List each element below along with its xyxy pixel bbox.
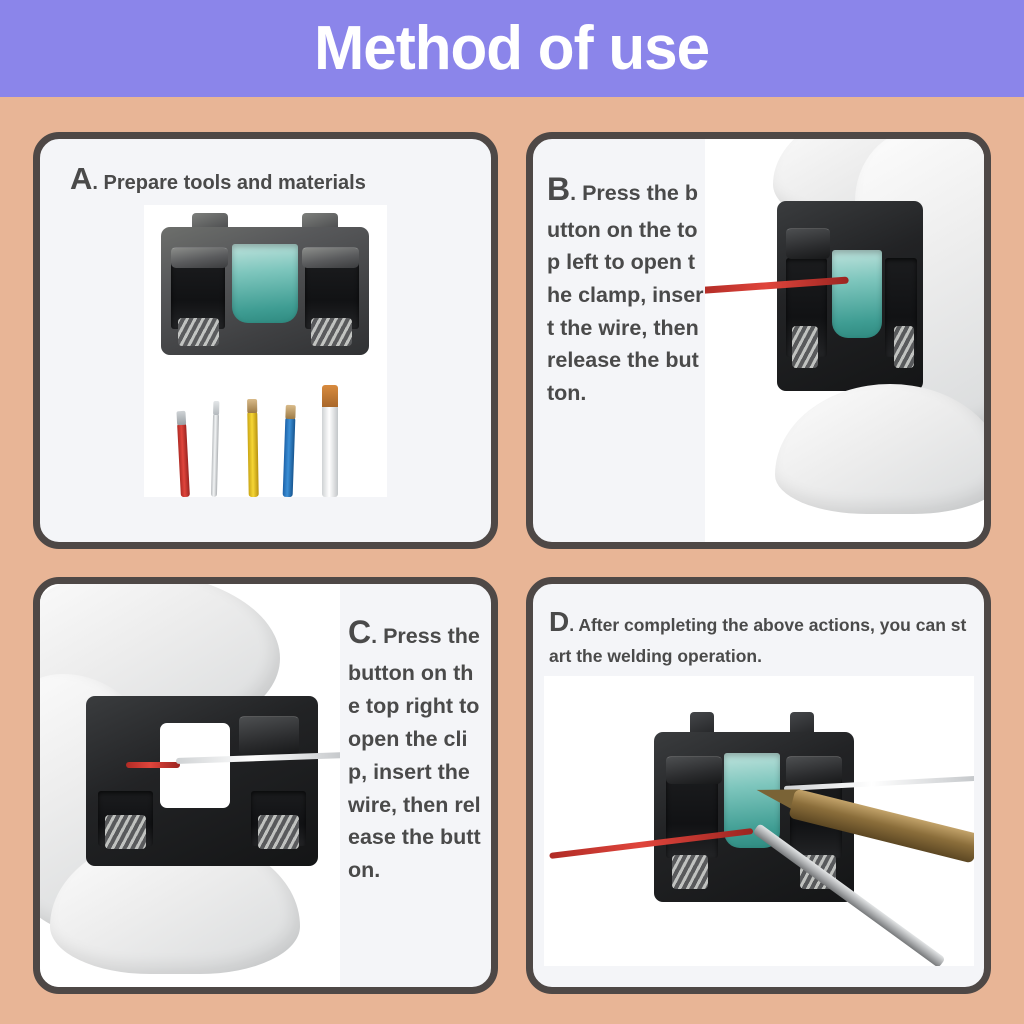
press-right-button-photo xyxy=(40,584,340,987)
wire-red xyxy=(177,423,190,497)
panel-a-letter: A xyxy=(70,161,92,196)
panel-c-letter: C xyxy=(348,614,371,650)
jig-spring-left xyxy=(792,326,818,368)
jig-lever-left xyxy=(666,756,722,784)
panel-c-separator: . xyxy=(371,624,383,648)
glove-lower xyxy=(775,384,984,514)
instruction-infographic: Method of use A. Prepare tools and mater… xyxy=(0,0,1024,1024)
wire-silver xyxy=(211,413,219,497)
panel-grid: A. Prepare tools and materials xyxy=(0,97,1024,1024)
jig-slot-left xyxy=(666,773,718,858)
jig-spring-right xyxy=(311,318,353,346)
welding-operation-photo xyxy=(544,676,974,966)
clamp-jig-illustration xyxy=(86,696,318,866)
panel-a-caption: A. Prepare tools and materials xyxy=(40,139,491,197)
clamp-jig-illustration xyxy=(161,227,369,355)
panel-a-separator: . xyxy=(92,172,103,194)
panel-b-text: Press the button on the top left to open… xyxy=(547,181,704,405)
panel-a-text: Prepare tools and materials xyxy=(104,172,366,194)
jig-lever-right xyxy=(302,247,358,267)
panel-b-letter: B xyxy=(547,171,570,207)
panel-a-photo-wrap xyxy=(40,197,491,542)
page-title: Method of use xyxy=(314,18,709,80)
jig-solder-pad xyxy=(232,244,299,323)
jig-solder-pad xyxy=(832,250,882,337)
jig-spring-left xyxy=(672,855,708,889)
jig-spring-right xyxy=(258,815,300,849)
panel-b: B. Press the button on the top left to o… xyxy=(526,132,991,549)
panel-a: A. Prepare tools and materials xyxy=(33,132,498,549)
panel-d-text: After completing the above actions, you … xyxy=(549,615,966,666)
wire-yellow xyxy=(247,411,258,497)
panel-d: D. After completing the above actions, y… xyxy=(526,577,991,994)
wire-red xyxy=(126,762,180,768)
panel-b-separator: . xyxy=(570,181,582,205)
jig-lever-left xyxy=(171,247,227,267)
jig-spring-left xyxy=(105,815,147,849)
header-bar: Method of use xyxy=(0,0,1024,97)
clamp-jig-illustration xyxy=(777,201,923,391)
panel-d-caption: D. After completing the above actions, y… xyxy=(533,584,984,669)
panel-c-caption: C. Press the button on the top right to … xyxy=(340,584,491,987)
press-left-button-photo xyxy=(705,139,984,542)
jig-lever-right xyxy=(786,756,842,784)
jig-lever-left xyxy=(786,228,830,259)
jig-spring-right xyxy=(894,326,914,368)
panel-d-letter: D xyxy=(549,606,569,637)
jig-lever-right xyxy=(239,716,299,754)
panel-c-text: Press the button on the top right to ope… xyxy=(348,624,481,882)
panel-d-separator: . xyxy=(569,615,578,635)
wire-white-thick xyxy=(322,405,338,497)
tools-and-materials-photo xyxy=(144,205,387,497)
wire-blue xyxy=(283,417,296,497)
panel-b-caption: B. Press the button on the top left to o… xyxy=(533,139,705,542)
panel-c: C. Press the button on the top right to … xyxy=(33,577,498,994)
panel-d-photo-wrap xyxy=(533,669,984,987)
jig-spring-left xyxy=(178,318,220,346)
